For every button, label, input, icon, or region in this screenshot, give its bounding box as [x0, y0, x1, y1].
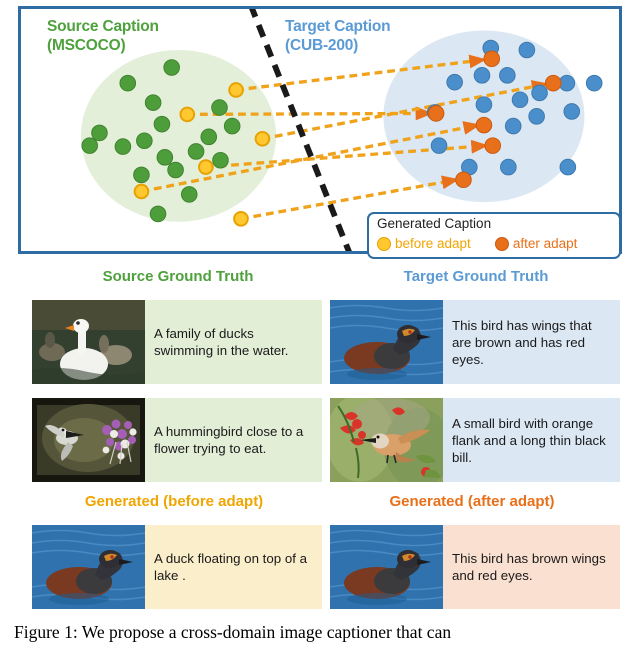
legend-items: before adapt after adapt: [377, 236, 577, 251]
domain-adaptation-diagram: Source Caption (MSCOCO) Target Caption (…: [18, 6, 622, 254]
caption-text: A hummingbird close to a flower trying t…: [145, 398, 322, 482]
source-caption-title: Source Caption (MSCOCO): [47, 17, 159, 55]
header-generated-before-adapt: Generated (before adapt): [24, 493, 324, 510]
header-source-ground-truth: Source Ground Truth: [28, 268, 328, 285]
header-generated-after-adapt: Generated (after adapt): [322, 493, 622, 510]
target-caption-title: Target Caption (CUB-200): [285, 17, 390, 55]
caption-text: This bird has brown wings and red eyes.: [443, 525, 620, 609]
legend-item-before-adapt: before adapt: [377, 236, 471, 251]
legend-label-before-adapt: before adapt: [395, 236, 471, 251]
header-target-ground-truth: Target Ground Truth: [326, 268, 626, 285]
figure-caption: Figure 1: We propose a cross-domain imag…: [14, 622, 630, 643]
legend-item-after-adapt: after adapt: [495, 236, 578, 251]
before-adapt-dot-icon: [377, 237, 391, 251]
after-adapt-dot-icon: [495, 237, 509, 251]
example-generated-after-adapt: This bird has brown wings and red eyes.: [330, 525, 620, 609]
example-rufous-hummingbird-row: A small bird with orange flank and a lon…: [330, 398, 620, 482]
example-source-gt-1: A family of ducks swimming in the water.: [32, 300, 322, 384]
rufous-hummingbird-at-red-flower-photo: [330, 398, 443, 482]
source-cluster-blob: [81, 50, 276, 222]
caption-text: This bird has wings that are brown and h…: [443, 300, 620, 384]
eared-grebe-on-water-photo: [330, 525, 443, 609]
hummingbird-at-purple-flower-photo: [32, 398, 145, 482]
generated-caption-legend: Generated Caption before adapt after ada…: [367, 212, 621, 259]
eared-grebe-on-water-photo: [330, 300, 443, 384]
swan-with-ducklings-photo: [32, 300, 145, 384]
caption-text: A duck floating on top of a lake .: [145, 525, 322, 609]
caption-text: A small bird with orange flank and a lon…: [443, 398, 620, 482]
legend-label-after-adapt: after adapt: [513, 236, 578, 251]
example-target-gt-1: This bird has wings that are brown and h…: [330, 300, 620, 384]
example-generated-before-adapt: A duck floating on top of a lake .: [32, 525, 322, 609]
caption-text: A family of ducks swimming in the water.: [145, 300, 322, 384]
eared-grebe-on-water-photo: [32, 525, 145, 609]
legend-title: Generated Caption: [377, 216, 491, 231]
example-source-gt-2: A hummingbird close to a flower trying t…: [32, 398, 322, 482]
